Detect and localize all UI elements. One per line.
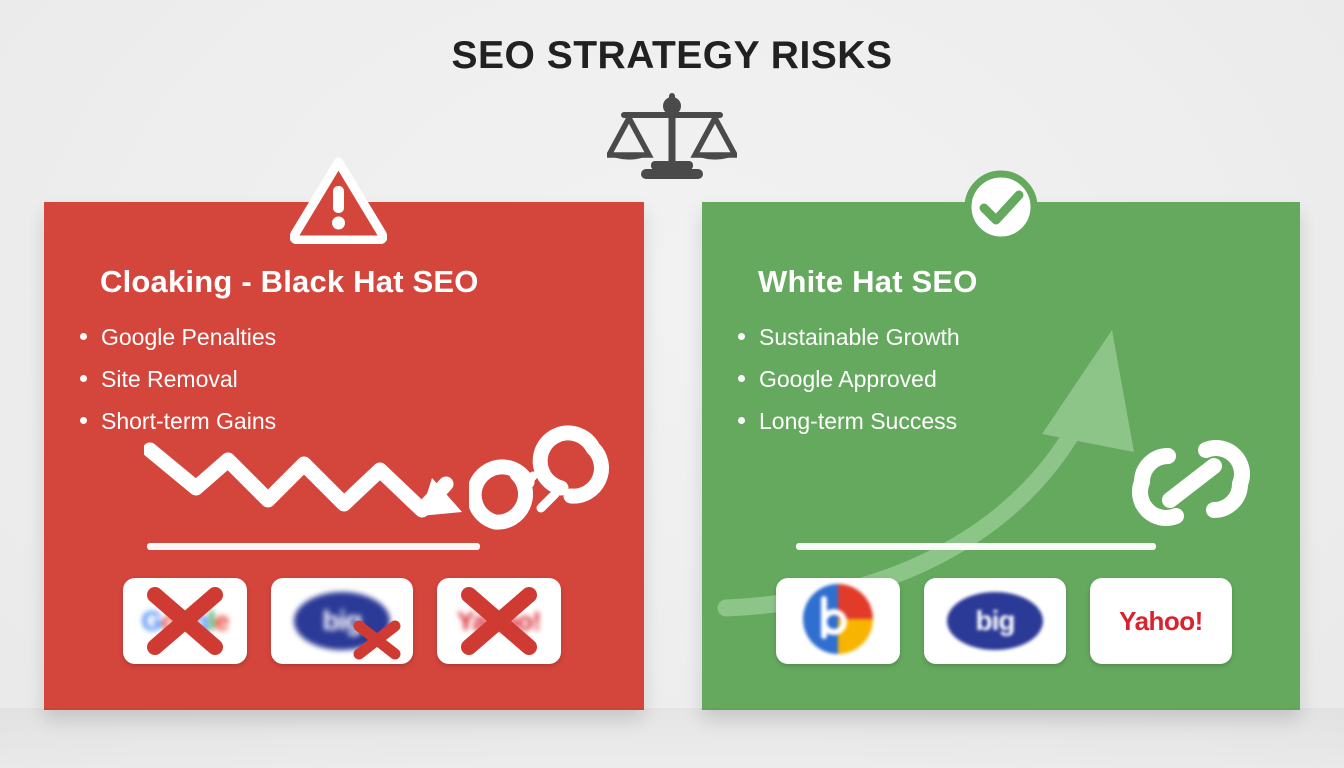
panel-white-hat-seo: White Hat SEO Sustainable Growth Google … bbox=[702, 202, 1300, 710]
x-mark-icon bbox=[437, 578, 561, 664]
list-item-label: Site Removal bbox=[101, 368, 238, 391]
bullet-dot-icon bbox=[80, 333, 87, 340]
yahoo-logo-badge: Yahoo! bbox=[1090, 578, 1232, 664]
google-logo-badge: Google bbox=[123, 578, 247, 664]
panel-divider bbox=[796, 543, 1156, 550]
list-item: Short-term Gains bbox=[80, 410, 276, 433]
page-title: SEO STRATEGY RISKS bbox=[452, 36, 893, 77]
list-item-label: Google Penalties bbox=[101, 326, 276, 349]
list-item-label: Sustainable Growth bbox=[759, 326, 960, 349]
list-item-label: Long-term Success bbox=[759, 410, 957, 433]
panel-divider bbox=[147, 543, 480, 550]
scene-bottom-shadow bbox=[0, 708, 1344, 768]
x-mark-icon bbox=[123, 578, 247, 664]
b-split-logo-badge bbox=[776, 578, 900, 664]
bullet-dot-icon bbox=[738, 417, 745, 424]
list-item: Site Removal bbox=[80, 368, 276, 391]
check-circle-icon bbox=[962, 168, 1040, 251]
panel-black-hat-seo: Cloaking - Black Hat SEO Google Penaltie… bbox=[44, 202, 644, 710]
bing-logo: big? bbox=[947, 592, 1043, 650]
list-item: Long-term Success bbox=[738, 410, 960, 433]
bing-logo-badge: big? bbox=[271, 578, 413, 664]
linked-chain-icon bbox=[1122, 420, 1262, 555]
warning-triangle-icon bbox=[290, 156, 387, 249]
b-split-logo bbox=[801, 582, 875, 656]
x-mark-icon bbox=[271, 578, 413, 664]
bullet-dot-icon bbox=[80, 375, 87, 382]
bullet-list-black-hat: Google Penalties Site Removal Short-term… bbox=[80, 326, 276, 452]
bing-logo-badge: big? bbox=[924, 578, 1066, 664]
yahoo-logo: Yahoo! bbox=[1119, 606, 1203, 637]
panel-title-black-hat: Cloaking - Black Hat SEO bbox=[100, 264, 479, 300]
list-item: Sustainable Growth bbox=[738, 326, 960, 349]
list-item: Google Penalties bbox=[80, 326, 276, 349]
bullet-list-white-hat: Sustainable Growth Google Approved Long-… bbox=[738, 326, 960, 452]
list-item-label: Google Approved bbox=[759, 368, 937, 391]
search-engine-badges-white-hat: big? Yahoo! bbox=[776, 578, 1232, 664]
list-item-label: Short-term Gains bbox=[101, 410, 276, 433]
yahoo-logo-badge: Yahoo! bbox=[437, 578, 561, 664]
panel-title-white-hat: White Hat SEO bbox=[758, 264, 978, 300]
header: SEO STRATEGY RISKS bbox=[0, 0, 1344, 200]
bullet-dot-icon bbox=[738, 333, 745, 340]
bullet-dot-icon bbox=[738, 375, 745, 382]
search-engine-badges-black-hat: Google big? bbox=[123, 578, 561, 664]
bullet-dot-icon bbox=[80, 417, 87, 424]
balance-scales-icon bbox=[607, 89, 737, 186]
broken-chain-icon bbox=[469, 424, 619, 554]
list-item: Google Approved bbox=[738, 368, 960, 391]
zigzag-down-arrow-icon bbox=[144, 440, 474, 545]
